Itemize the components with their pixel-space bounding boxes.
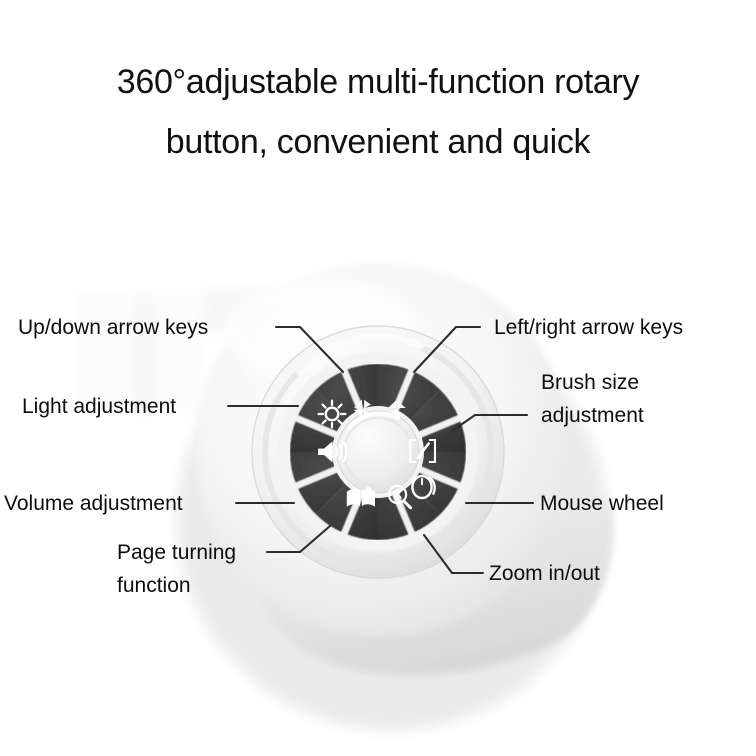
callout-brush-size-adjustment: Brush size adjustment bbox=[541, 366, 741, 432]
product-infographic: 360°adjustable multi-function rotary but… bbox=[0, 0, 756, 756]
callout-up-down-arrow-keys: Up/down arrow keys bbox=[18, 311, 208, 344]
callout-brush-size-line-1: Brush size bbox=[541, 366, 741, 399]
callout-volume-adjustment: Volume adjustment bbox=[4, 487, 183, 520]
rotary-dial[interactable] bbox=[290, 364, 466, 540]
callout-brush-size-line-2: adjustment bbox=[541, 399, 741, 432]
callout-left-right-arrow-keys: Left/right arrow keys bbox=[494, 311, 683, 344]
callout-zoom-in-out: Zoom in/out bbox=[489, 557, 600, 590]
callout-page-turning-function: Page turning function bbox=[117, 536, 287, 602]
callout-page-turning-line-2: function bbox=[117, 569, 287, 602]
callout-page-turning-line-1: Page turning bbox=[117, 536, 287, 569]
callout-light-adjustment: Light adjustment bbox=[22, 390, 176, 423]
callout-mouse-wheel: Mouse wheel bbox=[540, 487, 664, 520]
